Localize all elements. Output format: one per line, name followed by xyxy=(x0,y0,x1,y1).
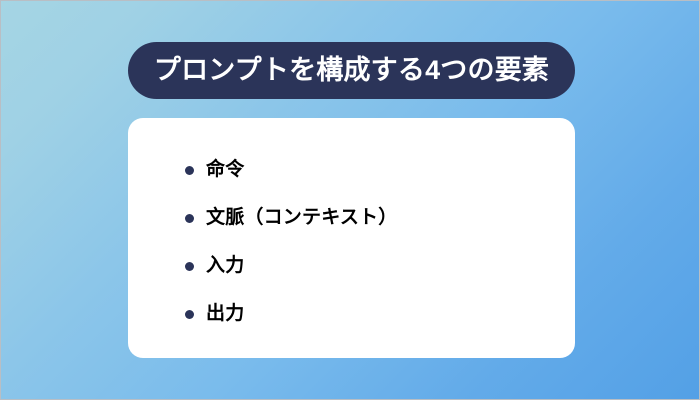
bullet-dot-icon xyxy=(185,166,194,175)
list-item: 文脈（コンテキスト） xyxy=(185,194,557,242)
list-item-label: 出力 xyxy=(206,303,244,326)
page-title: プロンプトを構成する4つの要素 xyxy=(154,57,549,84)
bullet-dot-icon xyxy=(185,310,194,319)
list-item: 入力 xyxy=(185,242,557,290)
list-item-label: 命令 xyxy=(206,159,244,182)
title-pill: プロンプトを構成する4つの要素 xyxy=(128,42,575,99)
list-item-label: 入力 xyxy=(206,255,244,278)
content-card: 命令 文脈（コンテキスト） 入力 出力 xyxy=(128,118,575,358)
bullet-dot-icon xyxy=(185,262,194,271)
bullet-dot-icon xyxy=(185,214,194,223)
list-item: 命令 xyxy=(185,146,557,194)
slide-canvas: プロンプトを構成する4つの要素 命令 文脈（コンテキスト） 入力 出力 xyxy=(0,0,700,400)
list-item: 出力 xyxy=(185,290,557,338)
bullet-list: 命令 文脈（コンテキスト） 入力 出力 xyxy=(185,146,557,338)
list-item-label: 文脈（コンテキスト） xyxy=(206,207,397,230)
